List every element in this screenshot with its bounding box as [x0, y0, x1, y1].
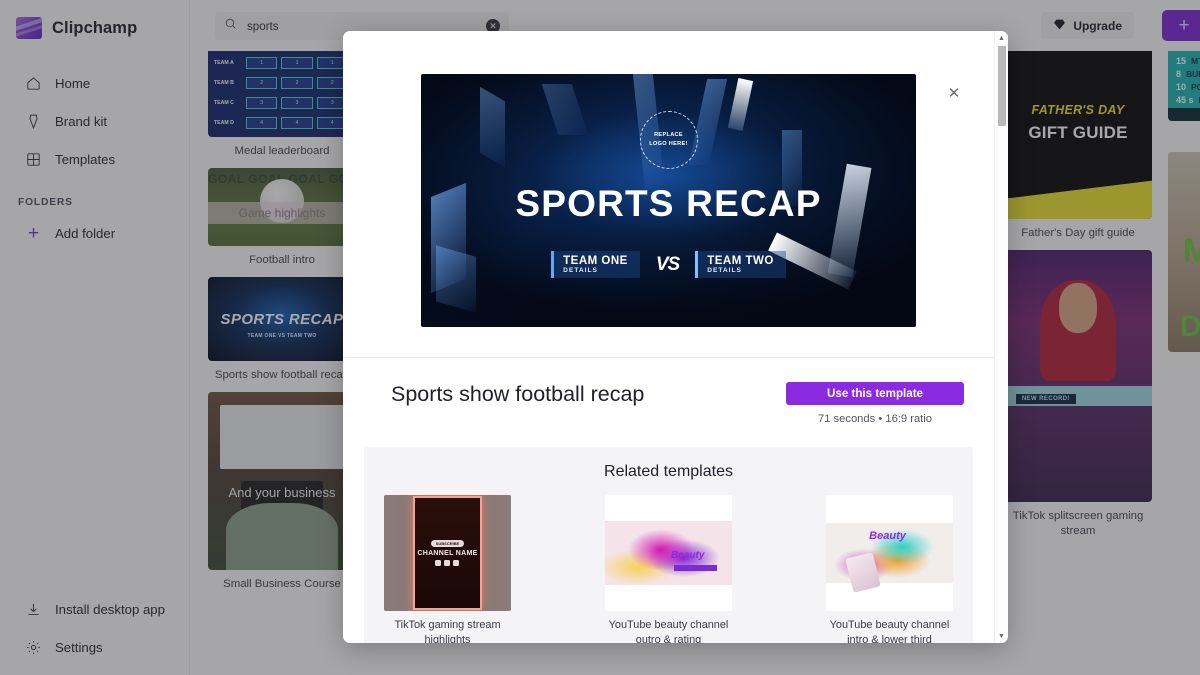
- team-one: TEAM ONE DETAILS: [551, 251, 640, 278]
- video-preview[interactable]: REPLACE LOGO HERE! SPORTS RECAP TEAM ONE…: [421, 74, 916, 327]
- team-two: TEAM TWO DETAILS: [695, 251, 786, 278]
- tiktok-gaming-stream-thumb: SUBSCRIBE CHANNEL NAME: [384, 495, 511, 611]
- watermark: Beauty: [869, 530, 906, 542]
- logo-placeholder-line2: LOGO HERE!: [649, 140, 687, 148]
- close-icon[interactable]: ✕: [942, 81, 966, 105]
- social-icons: [435, 560, 459, 566]
- modal-scrollbar[interactable]: ▲ ▼: [994, 31, 1008, 643]
- team-two-name: TEAM TWO: [707, 255, 774, 267]
- video-teams: TEAM ONE DETAILS VS TEAM TWO DETAILS: [421, 251, 916, 278]
- team-one-details: DETAILS: [563, 267, 628, 274]
- video-title: SPORTS RECAP: [421, 183, 916, 225]
- watermark: Beauty: [671, 550, 704, 561]
- related-template-label: YouTube beauty channel outro & rating: [605, 611, 732, 643]
- page-title: Sports show football recap: [391, 382, 644, 407]
- clipchamp-app: Clipchamp Home Brand kit Templates: [0, 0, 1200, 675]
- scrollbar-thumb[interactable]: [998, 46, 1006, 126]
- subscribe-pill: SUBSCRIBE: [431, 540, 465, 547]
- video-preview-wrap: REPLACE LOGO HERE! SPORTS RECAP TEAM ONE…: [343, 31, 994, 327]
- use-this-template-button[interactable]: Use this template: [786, 382, 964, 405]
- template-detail-modal: ✕ REPLACE LOGO HERE! SPORTS RECAP TEAM O…: [343, 31, 1008, 643]
- channel-name: CHANNEL NAME: [417, 550, 477, 557]
- logo-placeholder-line1: REPLACE: [654, 131, 683, 139]
- youtube-beauty-intro-thumb: Beauty: [826, 495, 953, 611]
- logo-placeholder: REPLACE LOGO HERE!: [640, 111, 698, 169]
- modal-content: ✕ REPLACE LOGO HERE! SPORTS RECAP TEAM O…: [343, 31, 994, 643]
- related-template-label: TikTok gaming stream highlights: [384, 611, 511, 643]
- related-templates-panel: Related templates SUBSCRIBE CHANNEL NAME…: [364, 447, 973, 643]
- team-one-name: TEAM ONE: [563, 255, 628, 267]
- vs-label: VS: [656, 254, 679, 276]
- related-template-card[interactable]: SUBSCRIBE CHANNEL NAME TikTok gaming str…: [384, 495, 511, 643]
- youtube-beauty-outro-thumb: Beauty: [605, 495, 732, 611]
- related-template-card[interactable]: Beauty YouTube beauty channel intro & lo…: [826, 495, 953, 643]
- scroll-down-arrow-icon[interactable]: ▼: [995, 629, 1008, 643]
- template-header: Sports show football recap Use this temp…: [343, 358, 994, 425]
- team-two-details: DETAILS: [707, 267, 774, 274]
- scroll-up-arrow-icon[interactable]: ▲: [995, 31, 1008, 45]
- related-templates-title: Related templates: [384, 463, 953, 481]
- related-template-label: YouTube beauty channel intro & lower thi…: [826, 611, 953, 643]
- related-template-card[interactable]: Beauty YouTube beauty channel outro & ra…: [605, 495, 732, 643]
- cta-column: Use this template 71 seconds • 16:9 rati…: [786, 382, 964, 425]
- template-meta: 71 seconds • 16:9 ratio: [786, 413, 964, 425]
- related-templates-row: SUBSCRIBE CHANNEL NAME TikTok gaming str…: [384, 495, 953, 643]
